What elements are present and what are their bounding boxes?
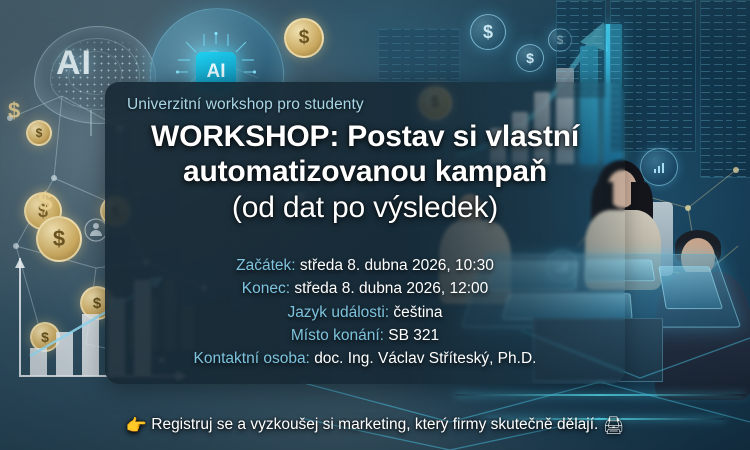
detail-value: čeština: [393, 304, 442, 321]
pointing-hand-icon: 👉: [126, 416, 147, 435]
detail-label: Jazyk události:: [287, 304, 389, 321]
page-title: WORKSHOP: Postav si vlastní automatizova…: [105, 120, 625, 225]
detail-label: Konec:: [242, 280, 290, 297]
title-line-1: WORKSHOP: Postav si vlastní: [111, 120, 619, 155]
detail-value: středa 8. dubna 2026, 10:30: [300, 257, 494, 274]
detail-row-venue: Místo konání: SB 321: [105, 324, 625, 347]
event-info-card: Univerzitní workshop pro studenty WORKSH…: [105, 82, 625, 384]
cta-text: Registruj se a vyzkoušej si marketing, k…: [151, 416, 598, 433]
detail-row-contact: Kontaktní osoba: doc. Ing. Václav Stříte…: [105, 347, 625, 370]
detail-value: doc. Ing. Václav Stříteský, Ph.D.: [314, 350, 536, 367]
eyebrow-text: Univerzitní workshop pro studenty: [127, 96, 364, 114]
detail-row-language: Jazyk události: čeština: [105, 301, 625, 324]
detail-label: Začátek:: [236, 257, 295, 274]
detail-label: Místo konání:: [291, 327, 384, 344]
event-details-list: Začátek: středa 8. dubna 2026, 10:30 Kon…: [105, 254, 625, 370]
detail-value: SB 321: [388, 327, 439, 344]
detail-row-end: Konec: středa 8. dubna 2026, 12:00: [105, 277, 625, 300]
title-line-3: (od dat po výsledek): [111, 191, 619, 226]
detail-label: Kontaktní osoba:: [194, 350, 310, 367]
call-to-action: 👉 Registruj se a vyzkoušej si marketing,…: [0, 416, 750, 436]
detail-row-start: Začátek: středa 8. dubna 2026, 10:30: [105, 254, 625, 277]
title-line-2: automatizovanou kampaň: [111, 155, 619, 190]
detail-value: středa 8. dubna 2026, 12:00: [294, 280, 488, 297]
cash-register-icon: 🖨: [603, 416, 625, 435]
event-poster: AI AI $ $ $ $ $ $ $ $ $ $ $ $: [0, 0, 750, 450]
